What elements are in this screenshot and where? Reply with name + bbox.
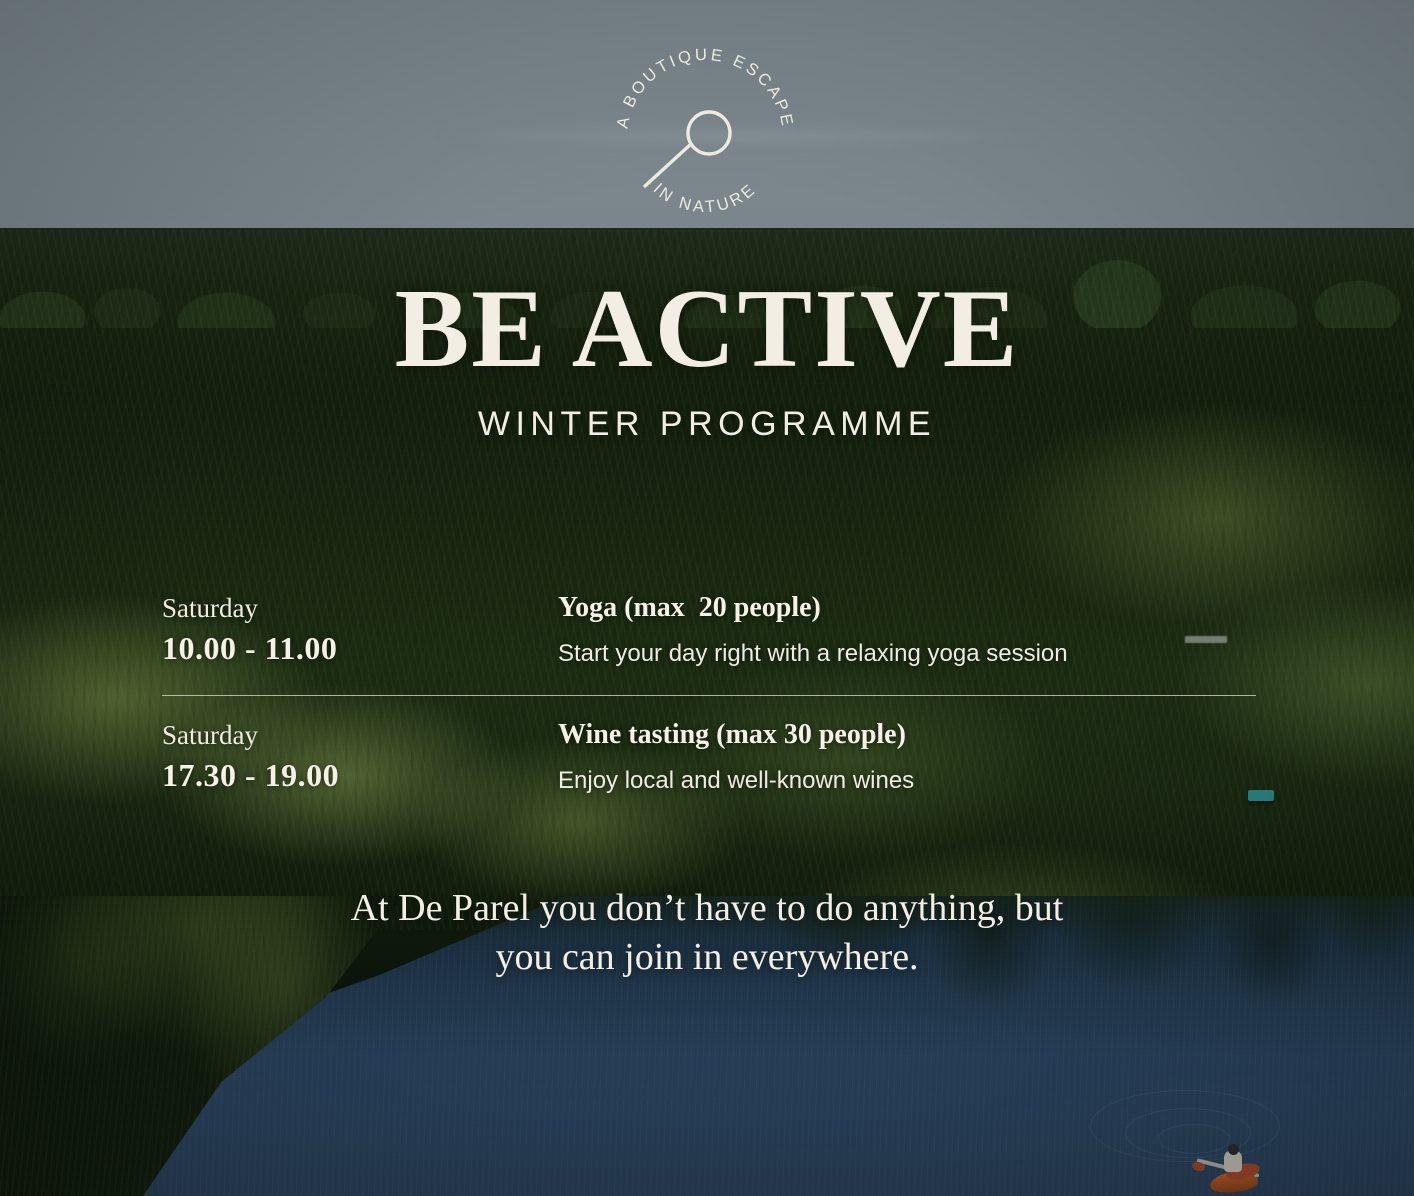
schedule-row: Saturday 10.00 - 11.00 Yoga (max 20 peop… (162, 588, 1256, 672)
schedule-list: Saturday 10.00 - 11.00 Yoga (max 20 peop… (162, 588, 1256, 799)
poster-content: A BOUTIQUE ESCAPE IN NATURE BE ACTIVE WI… (0, 0, 1414, 1196)
schedule-row: Saturday 17.30 - 19.00 Wine tasting (max… (162, 715, 1256, 799)
page-subtitle: WINTER PROGRAMME (0, 406, 1414, 443)
page-title: BE ACTIVE (0, 272, 1414, 386)
schedule-activity-description: Enjoy local and well-known wines (558, 764, 1256, 799)
schedule-activity-title: Yoga (max 20 people) (558, 588, 1256, 627)
schedule-when: Saturday 10.00 - 11.00 (162, 588, 558, 669)
brand-logo: A BOUTIQUE ESCAPE IN NATURE (605, 38, 805, 238)
svg-text:IN NATURE: IN NATURE (650, 180, 761, 217)
pearl-drop-icon (645, 112, 730, 186)
schedule-time: 10.00 - 11.00 (162, 627, 558, 669)
logo-ring-text-top: A BOUTIQUE ESCAPE (613, 46, 796, 130)
schedule-divider (162, 695, 1256, 696)
schedule-time: 17.30 - 19.00 (162, 754, 558, 796)
schedule-when: Saturday 17.30 - 19.00 (162, 715, 558, 796)
logo-ring-text-bottom: IN NATURE (650, 180, 761, 217)
schedule-what: Yoga (max 20 people) Start your day righ… (558, 588, 1256, 672)
tagline-line-2: you can join in everywhere. (0, 933, 1414, 982)
schedule-day: Saturday (162, 590, 558, 627)
tagline: At De Parel you don’t have to do anythin… (0, 884, 1414, 981)
schedule-day: Saturday (162, 717, 558, 754)
tagline-line-1: At De Parel you don’t have to do anythin… (351, 887, 1064, 929)
schedule-activity-title: Wine tasting (max 30 people) (558, 715, 1256, 754)
schedule-activity-description: Start your day right with a relaxing yog… (558, 637, 1256, 672)
svg-text:A BOUTIQUE ESCAPE: A BOUTIQUE ESCAPE (613, 46, 796, 130)
poster-canvas: A BOUTIQUE ESCAPE IN NATURE BE ACTIVE WI… (0, 0, 1414, 1196)
schedule-what: Wine tasting (max 30 people) Enjoy local… (558, 715, 1256, 799)
